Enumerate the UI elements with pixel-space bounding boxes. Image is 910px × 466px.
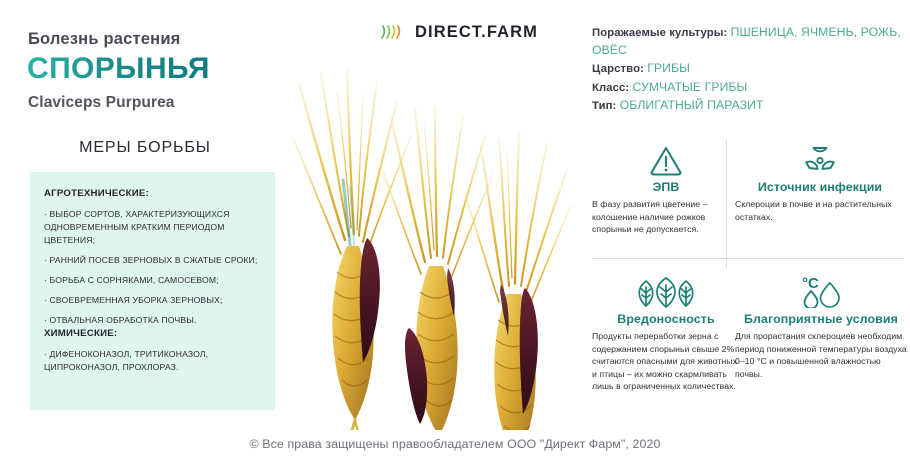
direct-farm-mark-icon <box>380 22 406 42</box>
brand-name: DIRECT.FARM <box>415 23 538 42</box>
feature-body: Для прорастания склероциев необходим пер… <box>735 330 907 380</box>
brand-logo: DIRECT.FARM <box>380 22 538 42</box>
list-item: · РАННИЙ ПОСЕВ ЗЕРНОВЫХ В СЖАТЫЕ СРОКИ; <box>44 254 266 267</box>
taxonomy-block: Поражаемые культуры: ПШЕНИЦА, ЯЧМЕНЬ, РО… <box>592 24 904 116</box>
feature-favorable-conditions: °C Благоприятные условия Для прорастания… <box>735 272 907 380</box>
taxonomy-value: ОБЛИГАТНЫЙ ПАРАЗИТ <box>620 98 764 112</box>
copyright-footer: © Все права защищены правообладателем ОО… <box>0 437 910 451</box>
page-title: СПОРЫНЬЯ <box>27 52 210 86</box>
chem-measures-list: · ДИФЕНОКОНАЗОЛ, ТРИТИКОНАЗОЛ, ЦИПРОКОНА… <box>44 348 266 374</box>
control-measures-box: АГРОТЕХНИЧЕСКИЕ: · ВЫБОР СОРТОВ, ХАРАКТЕ… <box>30 172 275 410</box>
list-item: · ДИФЕНОКОНАЗОЛ, ТРИТИКОНАЗОЛ, ЦИПРОКОНА… <box>44 348 266 374</box>
taxonomy-value: ГРИБЫ <box>647 61 690 75</box>
wheat-ergot-illustration <box>285 40 575 430</box>
agro-measures-list: · ВЫБОР СОРТОВ, ХАРАКТЕРИЗУЮЩИХСЯ ОДНОВР… <box>44 208 266 334</box>
taxonomy-row-kingdom: Царство: ГРИБЫ <box>592 60 904 78</box>
taxonomy-label: Поражаемые культуры: <box>592 27 727 39</box>
taxonomy-label: Царство: <box>592 63 644 75</box>
wheat-ear-middle <box>381 106 493 430</box>
list-item: · СВОЕВРЕМЕННАЯ УБОРКА ЗЕРНОВЫХ; <box>44 294 266 307</box>
taxonomy-value: СУМЧАТЫЕ ГРИБЫ <box>633 80 748 94</box>
measures-heading: МЕРЫ БОРЬБЫ <box>0 139 290 157</box>
feature-title: ЭПВ <box>592 180 740 194</box>
wheat-ear-right <box>465 134 571 430</box>
three-leaves-icon <box>592 272 740 308</box>
warning-triangle-icon <box>592 140 740 176</box>
list-item: · ВЫБОР СОРТОВ, ХАРАКТЕРИЗУЮЩИХСЯ ОДНОВР… <box>44 208 266 247</box>
left-column: Болезнь растения СПОРЫНЬЯ Claviceps Purp… <box>0 0 300 466</box>
list-item: · ОТВАЛЬНАЯ ОБРАБОТКА ПОЧВЫ. <box>44 314 266 327</box>
svg-text:°C: °C <box>802 275 819 292</box>
kicker-label: Болезнь растения <box>28 30 181 49</box>
taxonomy-label: Тип: <box>592 100 616 112</box>
radiation-trefoil-icon <box>735 140 905 176</box>
taxonomy-row-type: Тип: ОБЛИГАТНЫЙ ПАРАЗИТ <box>592 97 904 115</box>
feature-infection-source: Источник инфекции Склероции в почве и на… <box>735 140 905 223</box>
ergot-sclerotium <box>360 238 380 362</box>
feature-body: Склероции в почве и на растительных оста… <box>735 198 905 223</box>
feature-body: В фазу развития цветение – колошение нал… <box>592 198 740 236</box>
temperature-droplets-icon: °C <box>735 272 907 308</box>
taxonomy-label: Класс: <box>592 82 629 94</box>
taxonomy-row-class: Класс: СУМЧАТЫЕ ГРИБЫ <box>592 79 904 97</box>
chem-measures-title: ХИМИЧЕСКИЕ: <box>44 328 117 339</box>
feature-title: Благоприятные условия <box>735 312 907 326</box>
feature-body: Продукты переработки зерна с содержанием… <box>592 330 740 393</box>
taxonomy-row-crops: Поражаемые культуры: ПШЕНИЦА, ЯЧМЕНЬ, РО… <box>592 24 904 59</box>
list-item: · БОРЬБА С СОРНЯКАМИ, САМОСЕВОМ; <box>44 274 266 287</box>
feature-epv: ЭПВ В фазу развития цветение – колошение… <box>592 140 740 236</box>
feature-harmfulness: Вредоносность Продукты переработки зерна… <box>592 272 740 393</box>
agro-measures-title: АГРОТЕХНИЧЕСКИЕ: <box>44 188 149 199</box>
latin-name-label: Claviceps Purpurea <box>28 94 175 112</box>
infographic-page: Болезнь растения СПОРЫНЬЯ Claviceps Purp… <box>0 0 910 466</box>
feature-title: Вредоносность <box>592 312 740 326</box>
horizontal-divider <box>592 258 904 259</box>
ergot-sclerotium <box>520 288 538 414</box>
feature-title: Источник инфекции <box>735 180 905 194</box>
